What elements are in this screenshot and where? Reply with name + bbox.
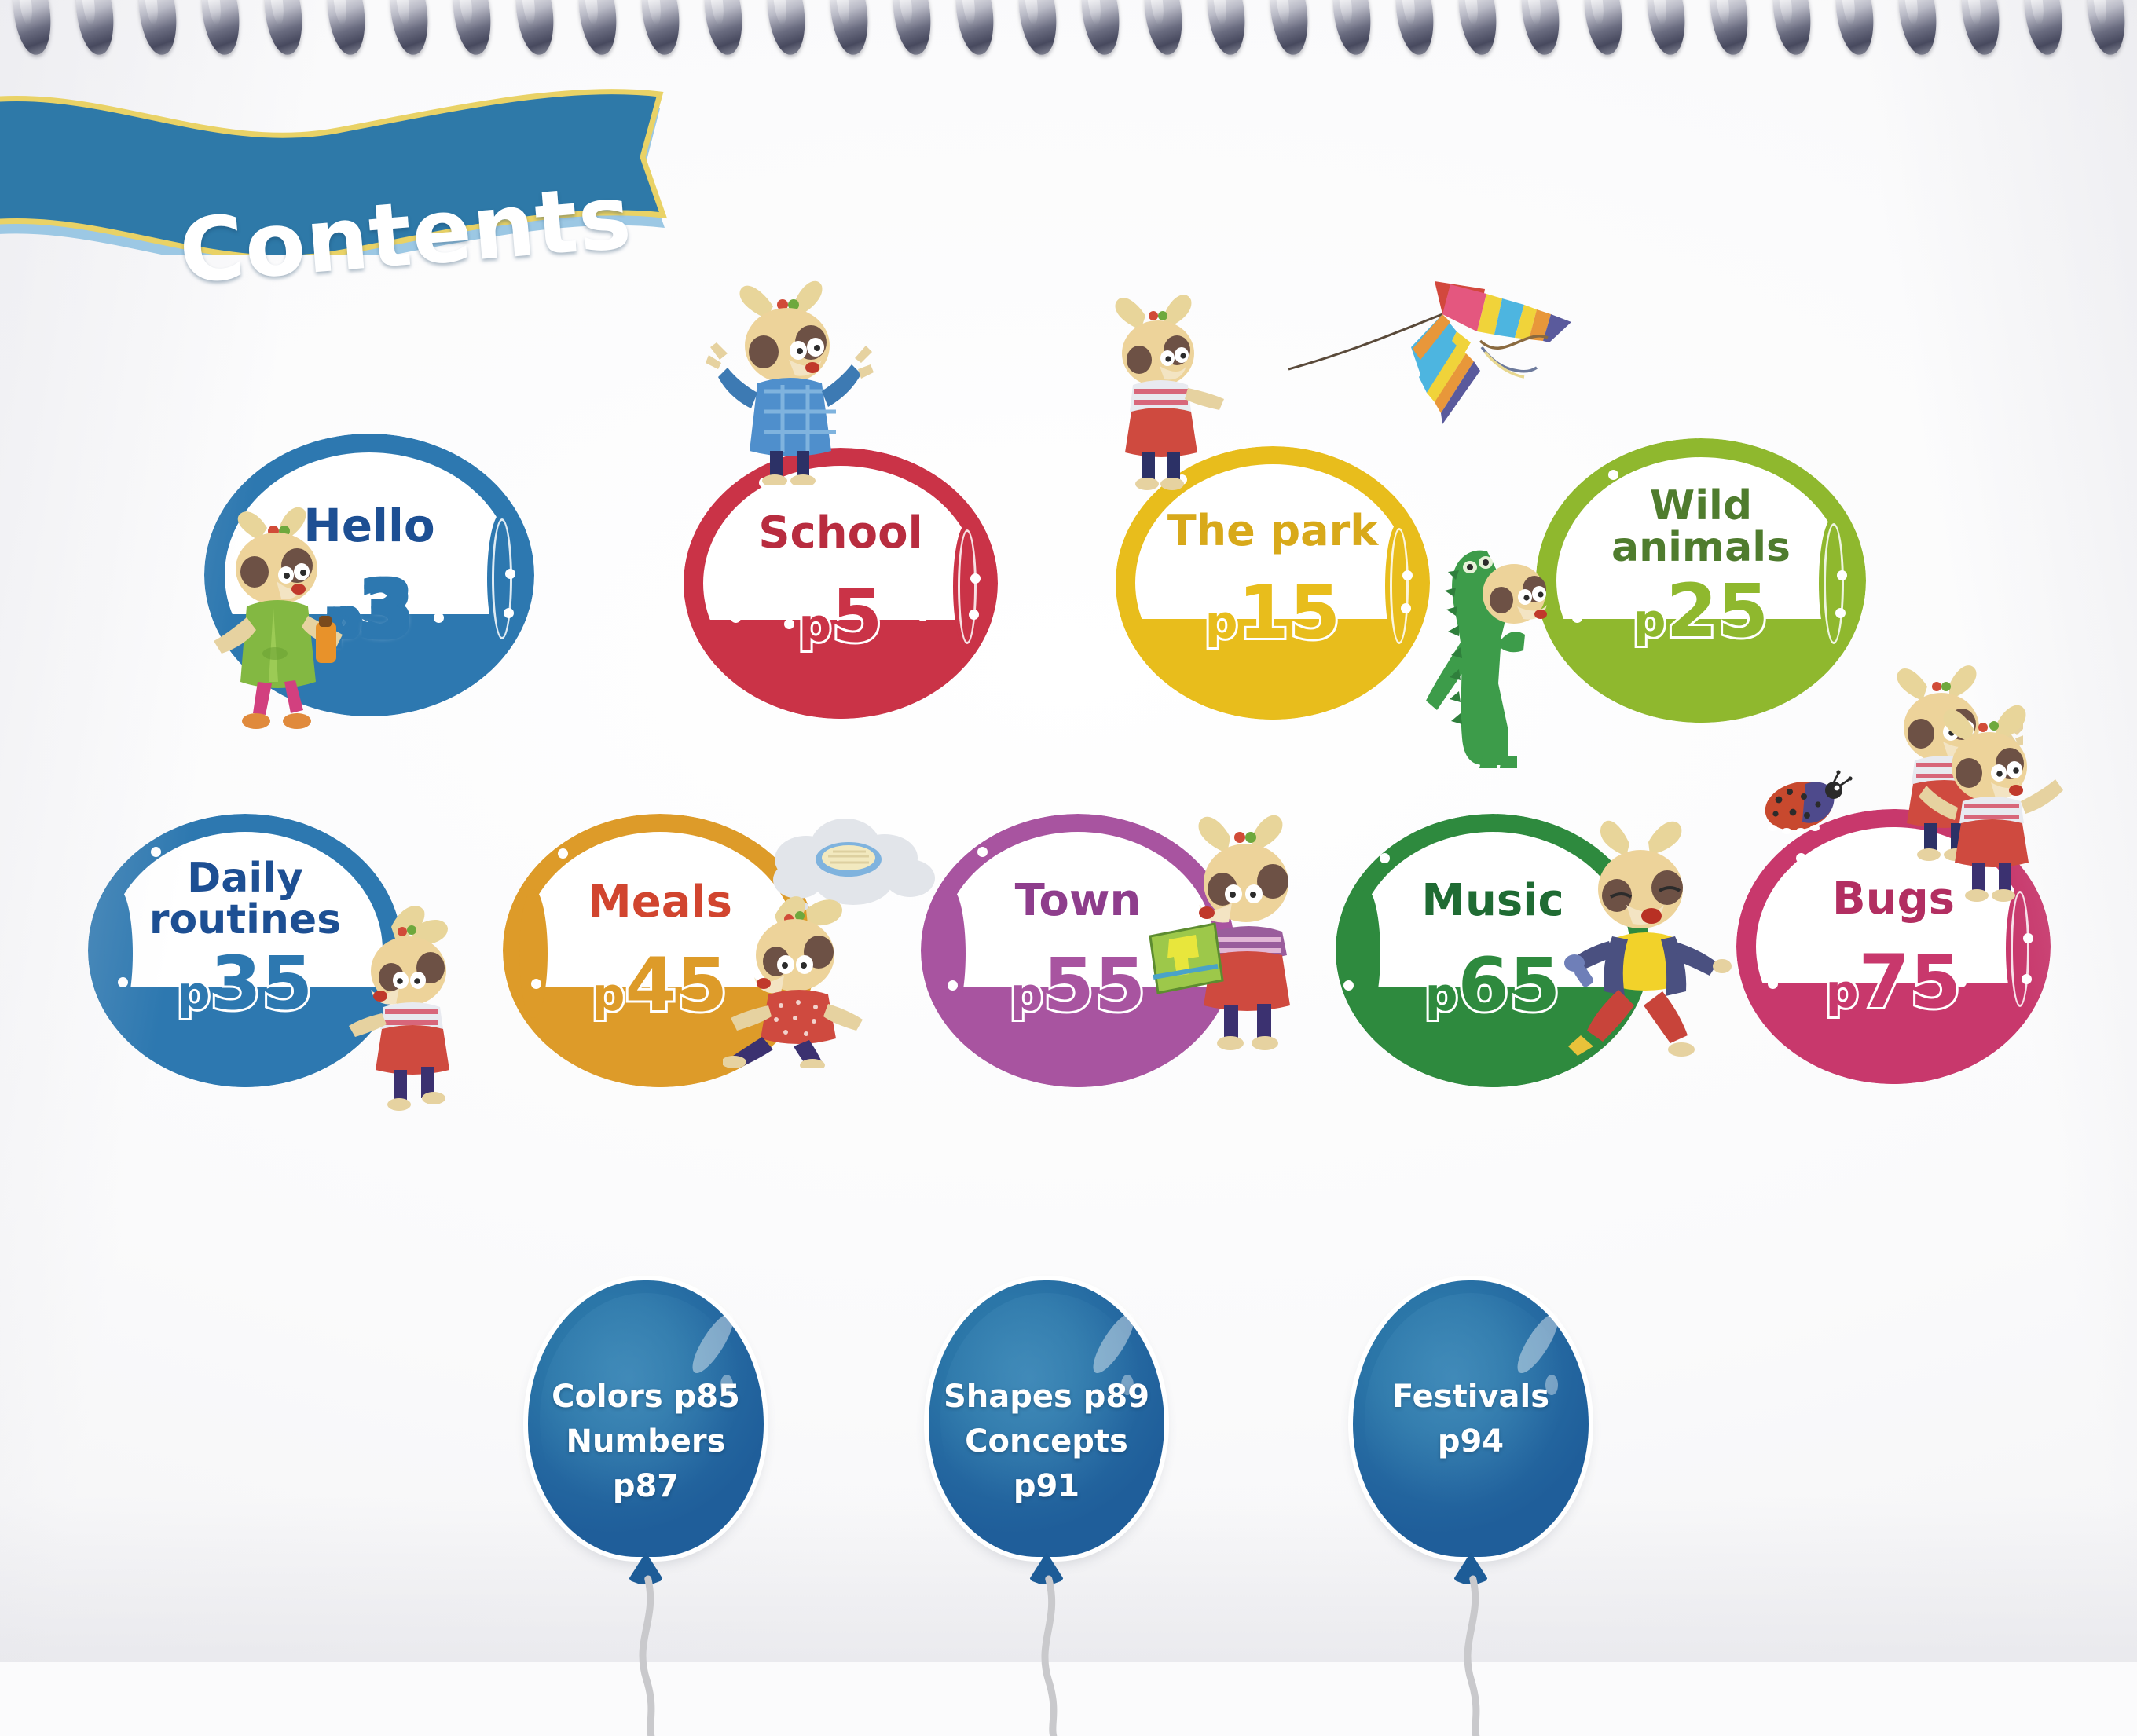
binding-coil	[14, 0, 50, 55]
binding-coil	[957, 0, 993, 55]
binding-coil	[1837, 0, 1873, 55]
binding-coil	[391, 0, 427, 55]
balloon-string	[1428, 1579, 1522, 1736]
binding-coil	[454, 0, 490, 55]
balloon-colors-numbers[interactable]: Colors p85 Numbers p87	[528, 1280, 764, 1595]
dog-character-blue-dress-icon	[701, 273, 874, 485]
contents-banner: Contents	[0, 82, 691, 255]
dog-character-with-kite-icon	[1086, 288, 1235, 492]
topic-page-number: p15	[1116, 570, 1430, 656]
binding-coil	[831, 0, 867, 55]
binding-coil	[706, 0, 742, 55]
binding-coil	[1083, 0, 1119, 55]
dog-character-on-bugs-bubble-icon	[1917, 698, 2074, 910]
contents-page: Contents Hello p3	[0, 0, 2137, 1662]
dog-character-with-map-icon	[1139, 808, 1328, 1059]
dog-character-green-robe-icon	[198, 500, 355, 735]
topic-bubble-school[interactable]: School p5	[684, 448, 998, 719]
binding-coil	[768, 0, 805, 55]
topic-page-number: p75	[1736, 939, 2051, 1025]
binding-coil	[1020, 0, 1056, 55]
binding-coil	[328, 0, 365, 55]
balloon-label: Festivals p94	[1367, 1375, 1574, 1464]
binding-coil	[203, 0, 239, 55]
binding-coil	[1648, 0, 1684, 55]
crocodile-costume-character-icon	[1426, 542, 1583, 770]
balloon-string	[1003, 1579, 1098, 1736]
binding-coil	[140, 0, 176, 55]
binding-coil	[266, 0, 302, 55]
dog-character-dreaming-of-food-icon	[723, 809, 943, 1068]
balloon-festivals[interactable]: Festivals p94	[1353, 1280, 1589, 1595]
topic-label: School	[684, 511, 998, 555]
dog-character-red-dress-icon	[324, 895, 481, 1115]
topic-page-number: p25	[1536, 569, 1866, 654]
topic-page-number: p5	[684, 573, 998, 659]
binding-coil	[2088, 0, 2124, 55]
binding-coil	[1523, 0, 1559, 55]
balloon-string	[603, 1579, 697, 1736]
binding-coil	[1711, 0, 1747, 55]
kite-icon	[1288, 259, 1634, 456]
binding-coil	[1334, 0, 1370, 55]
binding-coil	[1271, 0, 1307, 55]
binding-coil	[1397, 0, 1433, 55]
topic-label: The park	[1116, 509, 1430, 552]
binding-coil	[1900, 0, 1936, 55]
balloon-label: Shapes p89 Concepts p91	[943, 1375, 1150, 1508]
dog-character-singing-microphone-icon	[1548, 809, 1736, 1068]
balloon-label: Colors p85 Numbers p87	[542, 1375, 750, 1508]
binding-coil	[517, 0, 553, 55]
binding-coil	[643, 0, 679, 55]
binding-coil	[1774, 0, 1810, 55]
balloon-shapes-concepts[interactable]: Shapes p89 Concepts p91	[929, 1280, 1164, 1595]
binding-coil	[2025, 0, 2062, 55]
spiral-binding	[0, 0, 2137, 75]
binding-coil	[894, 0, 930, 55]
binding-coil	[1145, 0, 1182, 55]
binding-coil	[580, 0, 616, 55]
binding-coil	[77, 0, 113, 55]
topic-label: Wild animals	[1536, 485, 1866, 569]
binding-coil	[1963, 0, 1999, 55]
topic-bubble-wild-animals[interactable]: Wild animals p25	[1536, 438, 1866, 723]
ladybug-icon	[1758, 770, 1853, 841]
binding-coil	[1585, 0, 1622, 55]
binding-coil	[1460, 0, 1496, 55]
binding-coil	[1208, 0, 1244, 55]
